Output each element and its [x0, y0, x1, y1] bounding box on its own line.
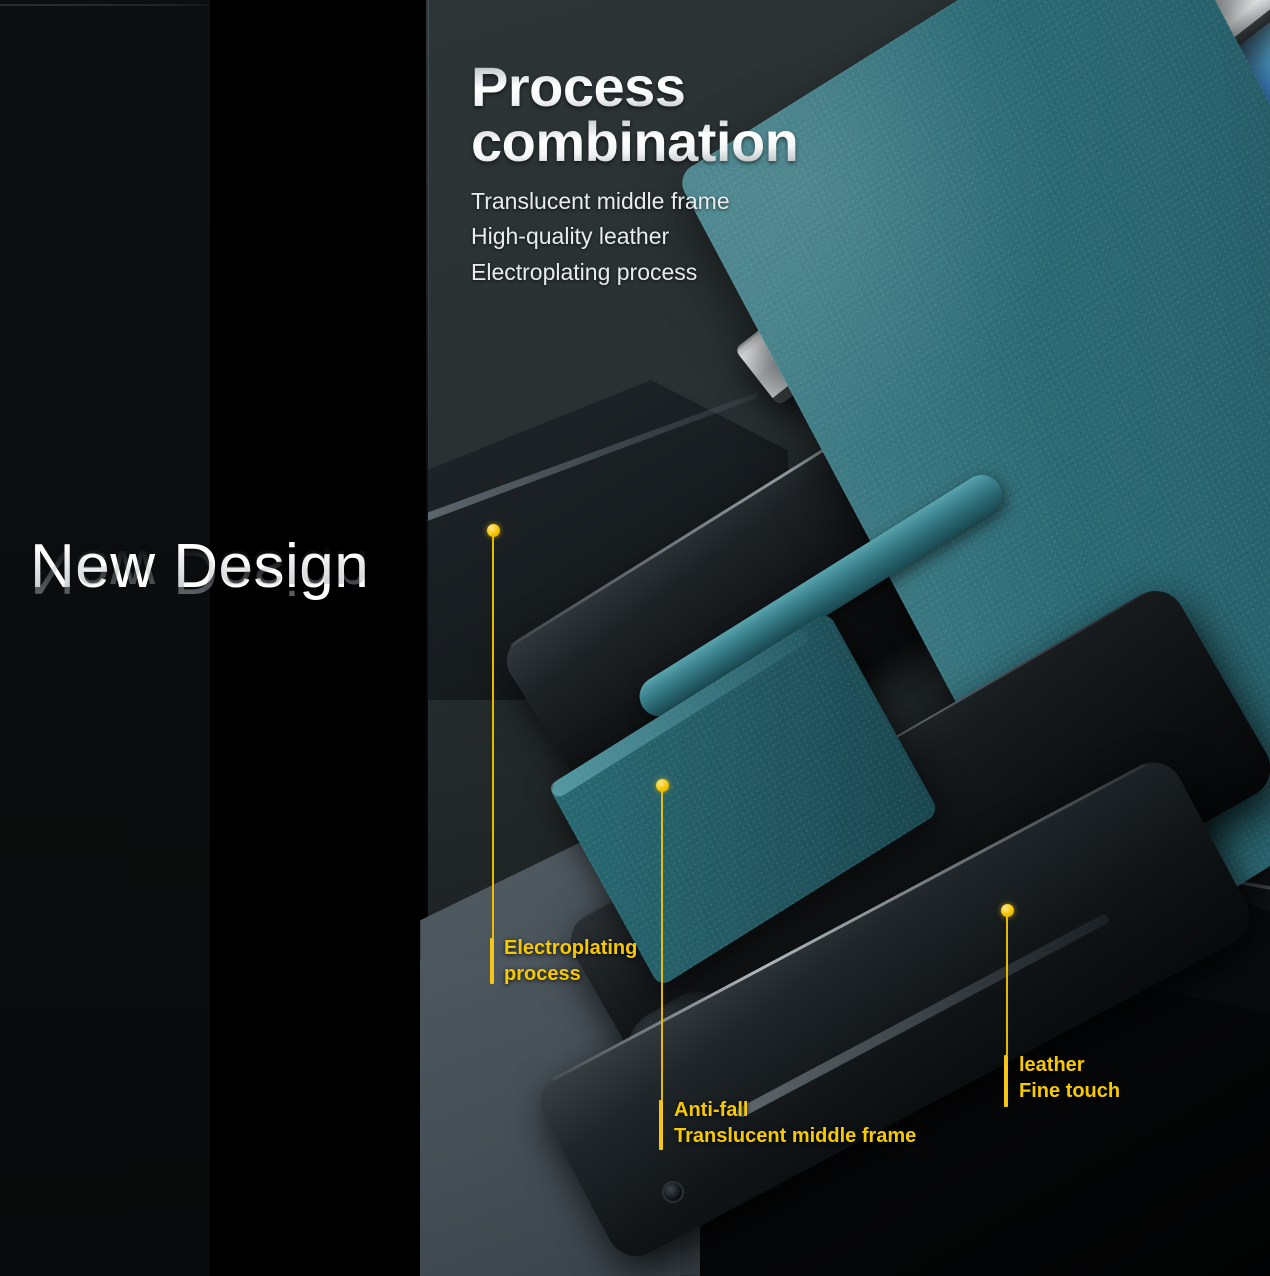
callout-tick-electroplating [490, 938, 494, 984]
callout-leather: leather Fine touch [1019, 1053, 1120, 1104]
headline-line-1: Process [471, 60, 891, 115]
callout-leader-line-leather [1006, 913, 1008, 1055]
camera-lens-dot [664, 1183, 682, 1201]
callout-tick-antifall [659, 1100, 663, 1150]
callout-leader-line-antifall [661, 788, 663, 1100]
feature-item-electroplating: Electroplating process [471, 255, 891, 291]
product-banner: NEW DESIGN Process combination Transluce… [0, 0, 1270, 1276]
callout-antifall: Anti-fall Translucent middle frame [674, 1098, 916, 1149]
callout-antifall-line-2: Translucent middle frame [674, 1124, 916, 1150]
feature-item-leather: High-quality leather [471, 219, 891, 255]
headline-block: Process combination Translucent middle f… [471, 60, 891, 291]
callout-electroplating: Electroplating process [504, 936, 637, 987]
feature-item-translucent-frame: Translucent middle frame [471, 184, 891, 220]
callout-electroplating-line-1: Electroplating [504, 936, 637, 962]
callout-electroplating-line-2: process [504, 962, 637, 988]
callout-leader-line-electroplating [492, 533, 494, 938]
hero-title-reflection: New Design [30, 540, 410, 602]
callout-antifall-line-1: Anti-fall [674, 1098, 916, 1124]
headline-line-2: combination [471, 115, 891, 170]
callout-leather-line-1: leather [1019, 1053, 1120, 1079]
feature-list: Translucent middle frame High-quality le… [471, 184, 891, 291]
background-top-hairline [0, 4, 212, 6]
callout-tick-leather [1004, 1055, 1008, 1107]
hero-title-block: New Design New Design [30, 536, 410, 664]
callout-leather-line-2: Fine touch [1019, 1079, 1120, 1105]
